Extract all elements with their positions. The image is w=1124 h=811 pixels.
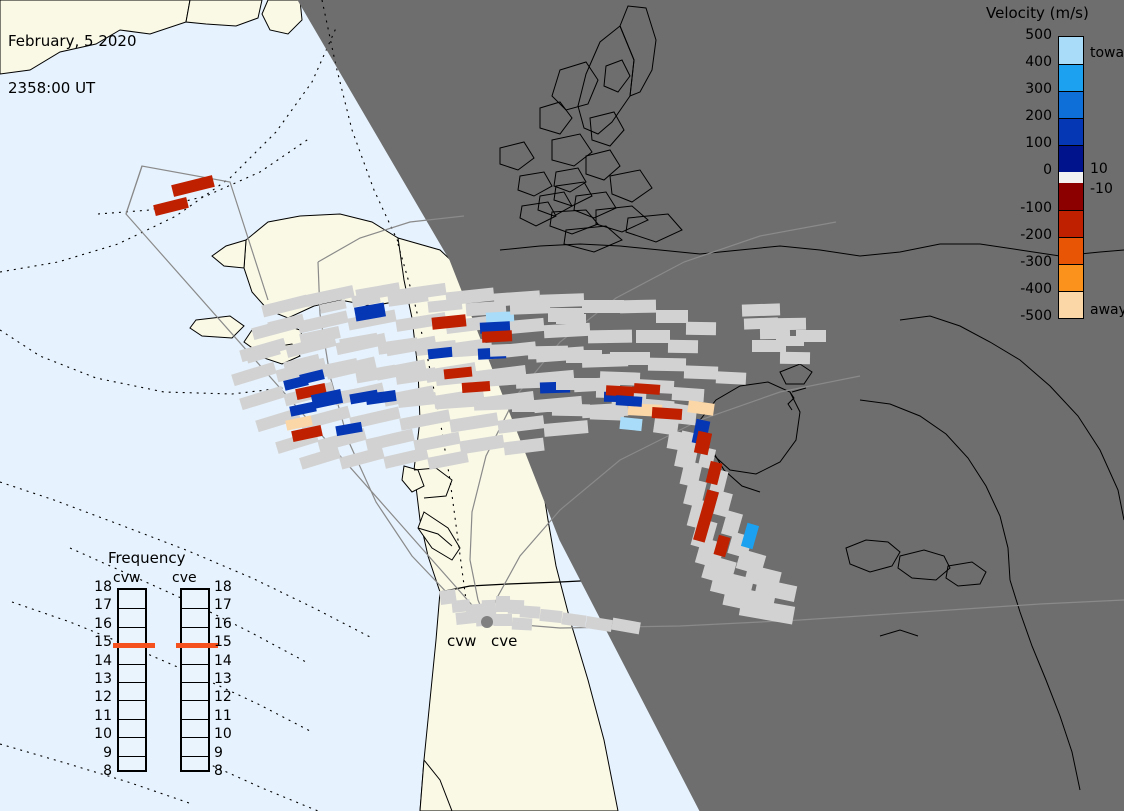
- colorbar-positive-threshold: 10: [1090, 161, 1108, 177]
- frequency-gridline: [119, 756, 145, 757]
- frequency-gridline: [119, 719, 145, 720]
- frequency-gridline: [119, 737, 145, 738]
- colorbar-toward-label: toward: [1090, 45, 1124, 61]
- fan-plot-canvas: February, 5 2020 2358:00 UT Velocity (m/…: [0, 0, 1124, 811]
- colorbar-band--150: [1059, 210, 1083, 237]
- colorbar-tick-500: 500: [1000, 27, 1052, 43]
- frequency-tick-left-8: 8: [88, 763, 112, 779]
- frequency-tick-right-10: 10: [214, 726, 232, 742]
- frequency-gridline: [119, 608, 145, 609]
- colorbar-band-divider: [1059, 91, 1083, 92]
- frequency-marker-cvw: [113, 643, 155, 648]
- colorbar-band-divider: [1059, 64, 1083, 65]
- map-site-label-cve: cve: [491, 632, 517, 650]
- colorbar-band--350: [1059, 264, 1083, 291]
- colorbar-band-50: [1059, 145, 1083, 172]
- frequency-marker-cve: [176, 643, 218, 648]
- colorbar-negative-threshold: -10: [1090, 181, 1113, 197]
- frequency-column-label-cvw: cvw: [113, 570, 140, 586]
- colorbar-band-divider: [1059, 264, 1083, 265]
- frequency-gridline: [119, 700, 145, 701]
- colorbar-tick-400: 400: [1000, 54, 1052, 70]
- frequency-gridline: [182, 608, 208, 609]
- colorbar-band-0: [1059, 172, 1083, 183]
- colorbar-tick--300: -300: [1000, 254, 1052, 270]
- frequency-bar-cve: [180, 588, 210, 772]
- colorbar-gradient-box: [1058, 36, 1084, 319]
- colorbar-band-250: [1059, 91, 1083, 118]
- colorbar-band--450: [1059, 291, 1083, 318]
- frequency-tick-right-11: 11: [214, 708, 232, 724]
- frequency-tick-right-14: 14: [214, 653, 232, 669]
- frequency-tick-left-13: 13: [88, 671, 112, 687]
- frequency-tick-right-13: 13: [214, 671, 232, 687]
- timestamp-block: February, 5 2020 2358:00 UT: [8, 2, 137, 128]
- colorbar-band-divider: [1059, 291, 1083, 292]
- colorbar-title: Velocity (m/s): [986, 4, 1089, 22]
- colorbar-tick--500: -500: [1000, 308, 1052, 324]
- frequency-legend-title: Frequency: [108, 549, 186, 567]
- colorbar-band-150: [1059, 118, 1083, 145]
- frequency-gridline: [182, 700, 208, 701]
- colorbar-band-350: [1059, 64, 1083, 91]
- frequency-tick-right-18: 18: [214, 579, 232, 595]
- frequency-tick-left-14: 14: [88, 653, 112, 669]
- frequency-tick-right-8: 8: [214, 763, 223, 779]
- frequency-tick-right-15: 15: [214, 634, 232, 650]
- radar-site-dot: [481, 616, 493, 628]
- colorbar-band-divider: [1059, 210, 1083, 211]
- colorbar-tick--200: -200: [1000, 227, 1052, 243]
- frequency-tick-left-16: 16: [88, 616, 112, 632]
- frequency-gridline: [182, 682, 208, 683]
- colorbar-away-label: away: [1090, 302, 1124, 318]
- colorbar-tick-300: 300: [1000, 81, 1052, 97]
- colorbar-band--250: [1059, 237, 1083, 264]
- frequency-gridline: [182, 627, 208, 628]
- map-site-label-cvw: cvw: [447, 632, 476, 650]
- frequency-tick-right-12: 12: [214, 689, 232, 705]
- frequency-tick-right-17: 17: [214, 597, 232, 613]
- frequency-column-label-cve: cve: [172, 570, 197, 586]
- frequency-gridline: [119, 664, 145, 665]
- date-label: February, 5 2020: [8, 34, 137, 50]
- colorbar-tick-200: 200: [1000, 108, 1052, 124]
- colorbar-tick-100: 100: [1000, 135, 1052, 151]
- frequency-gridline: [182, 664, 208, 665]
- frequency-tick-left-12: 12: [88, 689, 112, 705]
- frequency-tick-left-18: 18: [88, 579, 112, 595]
- colorbar-band-divider: [1059, 145, 1083, 146]
- frequency-tick-left-10: 10: [88, 726, 112, 742]
- frequency-gridline: [182, 737, 208, 738]
- frequency-gridline: [182, 756, 208, 757]
- radar-site-marker-layer: [0, 0, 1124, 811]
- frequency-tick-right-16: 16: [214, 616, 232, 632]
- frequency-tick-left-17: 17: [88, 597, 112, 613]
- frequency-tick-right-9: 9: [214, 745, 223, 761]
- frequency-bar-cvw: [117, 588, 147, 772]
- frequency-tick-left-9: 9: [88, 745, 112, 761]
- frequency-tick-left-11: 11: [88, 708, 112, 724]
- colorbar-band-divider: [1059, 237, 1083, 238]
- colorbar-band-divider: [1059, 118, 1083, 119]
- frequency-gridline: [182, 719, 208, 720]
- colorbar-band-450: [1059, 37, 1083, 64]
- time-label: 2358:00 UT: [8, 81, 137, 97]
- colorbar-tick--100: -100: [1000, 200, 1052, 216]
- frequency-gridline: [119, 627, 145, 628]
- colorbar-band--50: [1059, 183, 1083, 210]
- colorbar-tick-0: 0: [1000, 162, 1052, 178]
- colorbar-tick--400: -400: [1000, 281, 1052, 297]
- frequency-tick-left-15: 15: [88, 634, 112, 650]
- frequency-gridline: [119, 682, 145, 683]
